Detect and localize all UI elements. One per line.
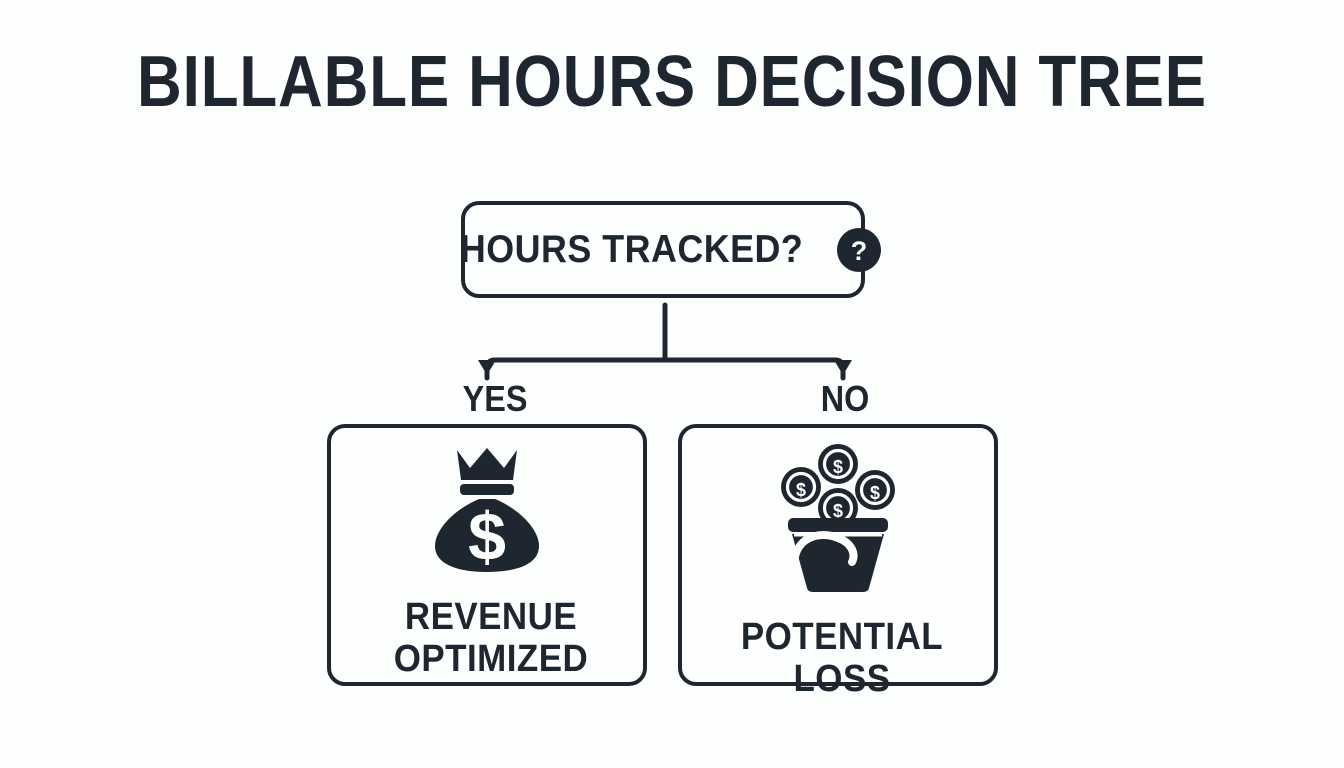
coin: $ xyxy=(818,444,858,484)
outcome-box-revenue-optimized[interactable]: $ REVENUE OPTIMIZED xyxy=(327,424,647,686)
outcome-box-potential-loss[interactable]: $ $ $ $ xyxy=(678,424,998,686)
arrowhead-no xyxy=(834,360,852,375)
outcome-label-potential-loss: POTENTIAL LOSS xyxy=(686,616,999,700)
svg-text:$: $ xyxy=(796,480,806,500)
money-bag-icon: $ xyxy=(427,446,547,574)
arrowhead-yes xyxy=(478,360,496,375)
outcome-label-line1: POTENTIAL xyxy=(741,616,943,658)
outcome-label-line2: LOSS xyxy=(686,658,999,700)
outcome-label-line2: OPTIMIZED xyxy=(335,638,648,680)
question-mark-circle-icon: ? xyxy=(837,228,881,272)
bucket-with-coins-icon: $ $ $ $ xyxy=(768,442,908,594)
svg-text:?: ? xyxy=(850,236,867,266)
svg-text:$: $ xyxy=(468,499,506,574)
outcome-label-revenue-optimized: REVENUE OPTIMIZED xyxy=(335,596,648,680)
outcome-label-line1: REVENUE xyxy=(405,596,577,638)
decision-node-hours-tracked[interactable]: HOURS TRACKED? ? xyxy=(461,201,865,298)
svg-text:$: $ xyxy=(833,457,843,477)
page-title: BILLABLE HOURS DECISION TREE xyxy=(94,46,1250,118)
diagram-canvas: BILLABLE HOURS DECISION TREE HOURS TRACK… xyxy=(0,0,1344,768)
branch-label-yes: YES xyxy=(463,381,528,417)
branch-label-no: NO xyxy=(821,381,870,417)
svg-text:$: $ xyxy=(870,483,880,503)
decision-node-label: HOURS TRACKED? xyxy=(460,228,803,272)
coin: $ xyxy=(855,470,895,510)
coin: $ xyxy=(781,467,821,507)
